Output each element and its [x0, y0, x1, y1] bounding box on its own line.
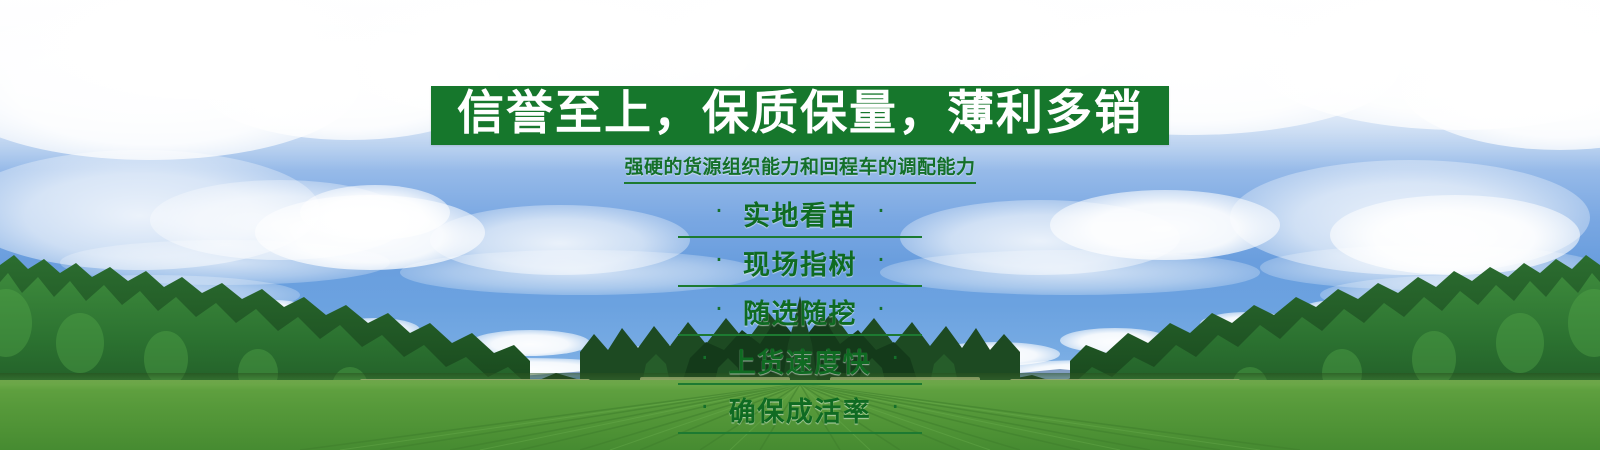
headline-banner: 信誉至上，保质保量，薄利多销: [431, 86, 1169, 145]
headline-text: 信誉至上，保质保量，薄利多销: [457, 90, 1143, 137]
feature-label: 上货速度快: [729, 341, 872, 380]
feature-item-3: · 随选随挖 ·: [678, 291, 922, 336]
subtitle-text: 强硬的货源组织能力和回程车的调配能力: [624, 152, 975, 184]
feature-label: 随选随挖: [743, 292, 857, 331]
feature-item-4: · 上货速度快 ·: [678, 340, 922, 385]
feature-list: · 实地看苗 · · 现场指树 · · 随选随挖 · · 上货速度快 · ·: [678, 193, 922, 438]
feature-label: 实地看苗: [743, 194, 857, 233]
promotional-banner: 信誉至上，保质保量，薄利多销 强硬的货源组织能力和回程车的调配能力 · 实地看苗…: [0, 0, 1600, 450]
feature-item-1: · 实地看苗 ·: [678, 193, 922, 238]
feature-label: 现场指树: [743, 243, 857, 282]
feature-item-2: · 现场指树 ·: [678, 242, 922, 287]
banner-content: 信誉至上，保质保量，薄利多销 强硬的货源组织能力和回程车的调配能力 · 实地看苗…: [0, 0, 1600, 438]
feature-item-5: · 确保成活率 ·: [678, 389, 922, 434]
feature-label: 确保成活率: [729, 390, 872, 429]
